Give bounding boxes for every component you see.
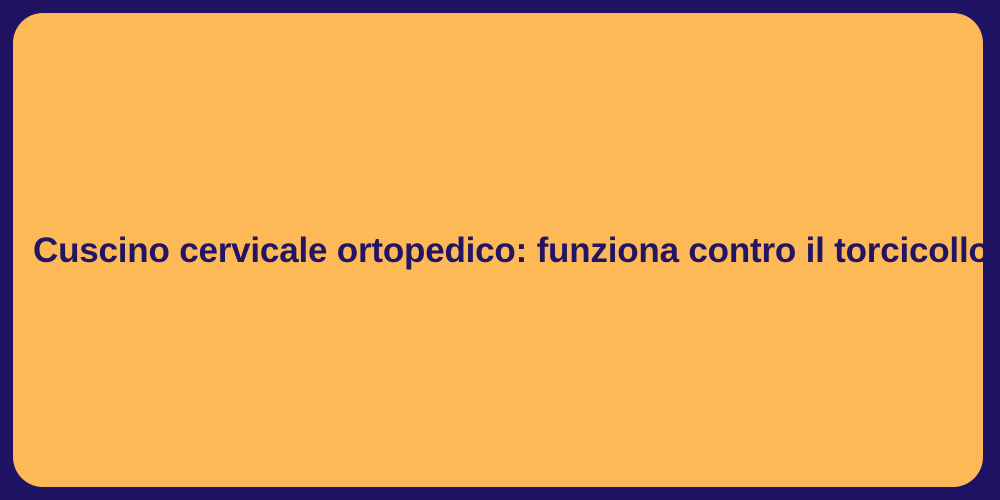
- headline-panel: Cuscino cervicale ortopedico: funziona c…: [13, 13, 983, 487]
- page-title: Cuscino cervicale ortopedico: funziona c…: [13, 229, 983, 273]
- article-header-banner: Cuscino cervicale ortopedico: funziona c…: [0, 0, 1000, 500]
